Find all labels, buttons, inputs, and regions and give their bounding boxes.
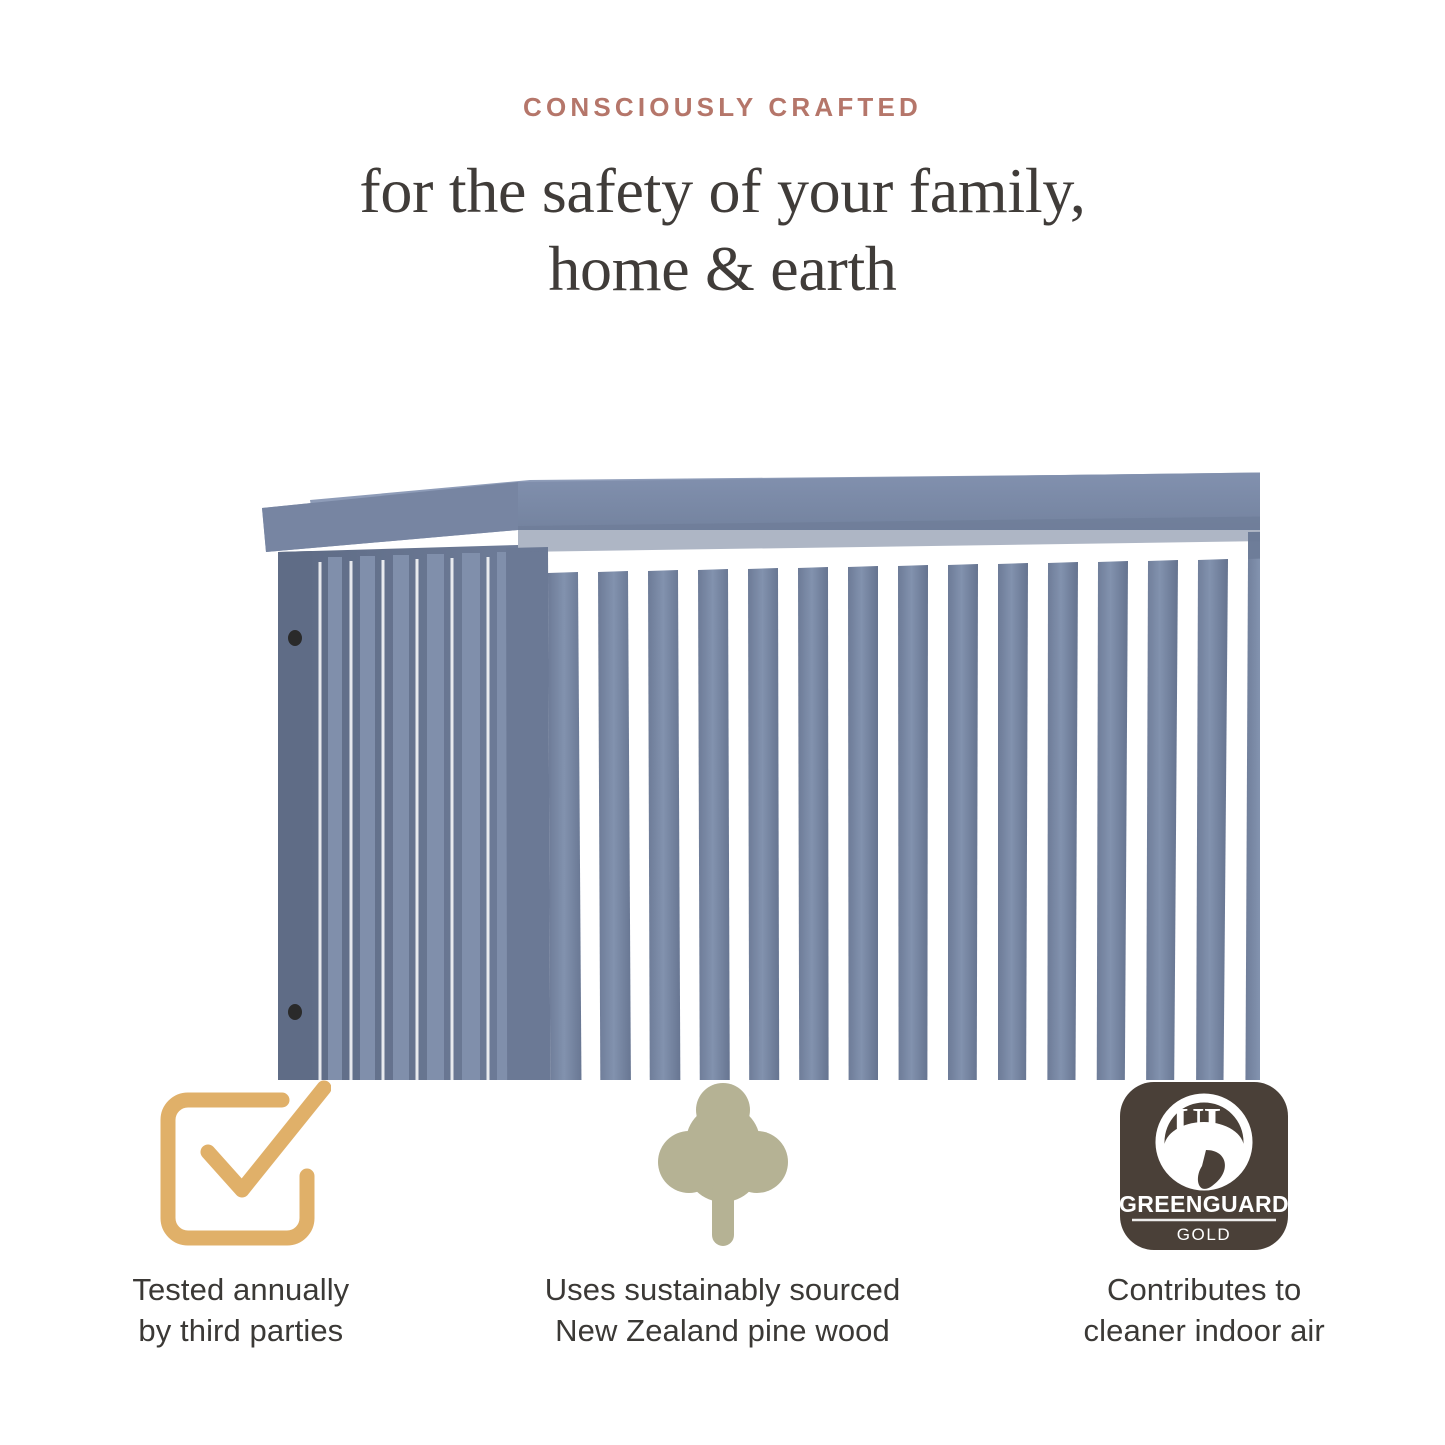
crib-illustration [200,340,1260,1080]
feature-item-greenguard: UL GREENGUARD GOLD Contributes to cleane… [963,1080,1445,1410]
crib-top-rail [262,468,1260,552]
crib-left-end-panel [278,545,518,1080]
feature-label: Tested annually by third parties [132,1270,349,1352]
crib-front-corner-post [506,547,552,1080]
greenguard-gold-badge-icon: UL GREENGUARD GOLD [1118,1080,1290,1252]
product-image-crib [200,340,1260,1080]
badge-level-text: GOLD [1177,1225,1232,1244]
feature-list: Tested annually by third parties Uses su… [0,1080,1445,1410]
feature-item-tested-annually: Tested annually by third parties [0,1080,482,1410]
feature-label: Contributes to cleaner indoor air [1084,1270,1325,1352]
crib-front-slats [548,552,1260,1080]
ul-mark-text: UL [1173,1099,1234,1148]
headline-line-1: for the safety of your family, [359,155,1085,226]
feature-label: Uses sustainably sourced New Zealand pin… [545,1270,901,1352]
checkbox-check-icon [151,1080,331,1252]
feature-item-sustainable-wood: Uses sustainably sourced New Zealand pin… [482,1080,964,1410]
tree-icon [653,1080,793,1252]
eyebrow-text: CONSCIOUSLY CRAFTED [0,92,1445,123]
marketing-graphic-page: CONSCIOUSLY CRAFTED for the safety of yo… [0,0,1445,1445]
greenguard-title-text: GREENGUARD [1119,1191,1289,1217]
headline-line-2: home & earth [0,230,1445,308]
page-title: for the safety of your family, home & ea… [0,152,1445,308]
